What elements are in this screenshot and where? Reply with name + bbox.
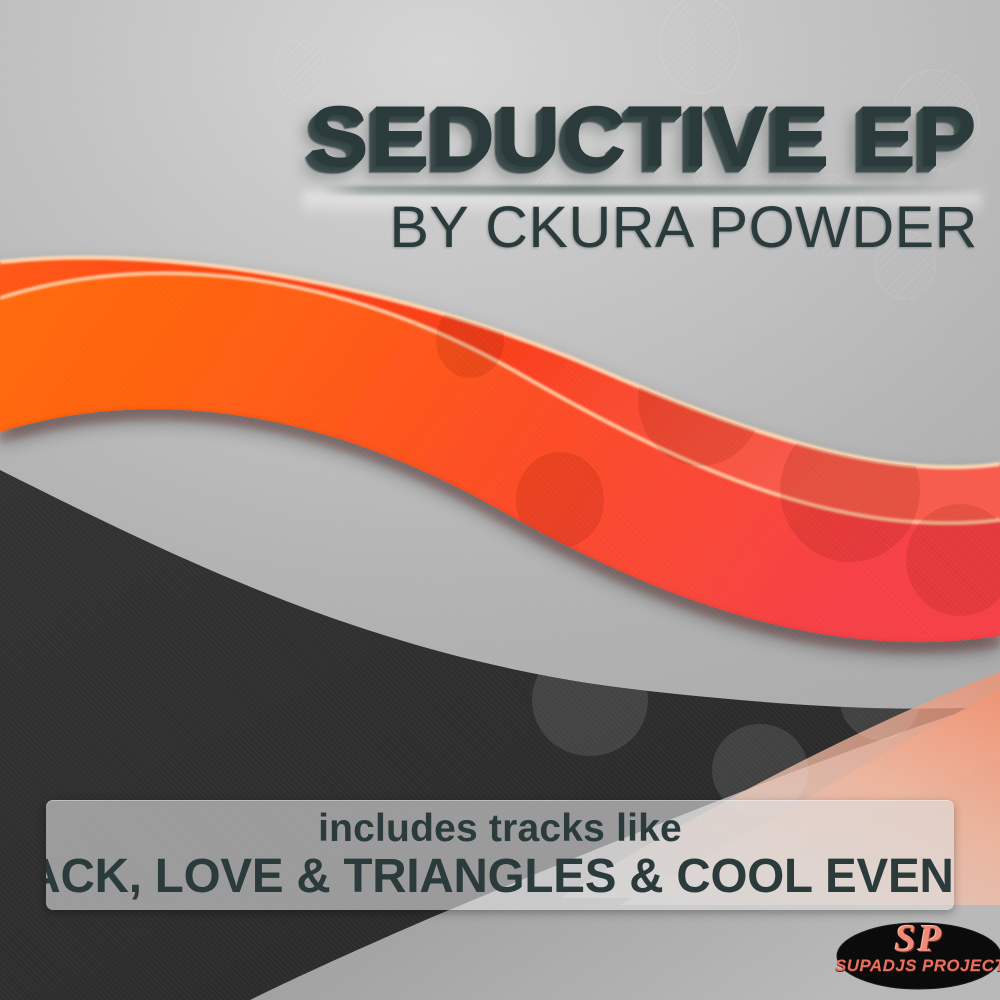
banner-tracks-text: BLACK, LOVE & TRIANGLES & COOL EVENING: [46, 853, 954, 901]
label-logo: SP SUPADJS PROJECTS: [835, 916, 1000, 994]
album-title: SEDUCTIVE EP: [309, 96, 978, 179]
banner-intro-text: includes tracks like: [318, 809, 682, 848]
logo-label-name: SUPADJS PROJECTS: [835, 956, 1000, 976]
album-artist: BY CKURA POWDER: [390, 198, 978, 259]
tracklist-banner: includes tracks like BLACK, LOVE & TRIAN…: [46, 800, 954, 910]
album-cover: SEDUCTIVE EP BY CKURA POWDER includes tr…: [0, 0, 1000, 1000]
